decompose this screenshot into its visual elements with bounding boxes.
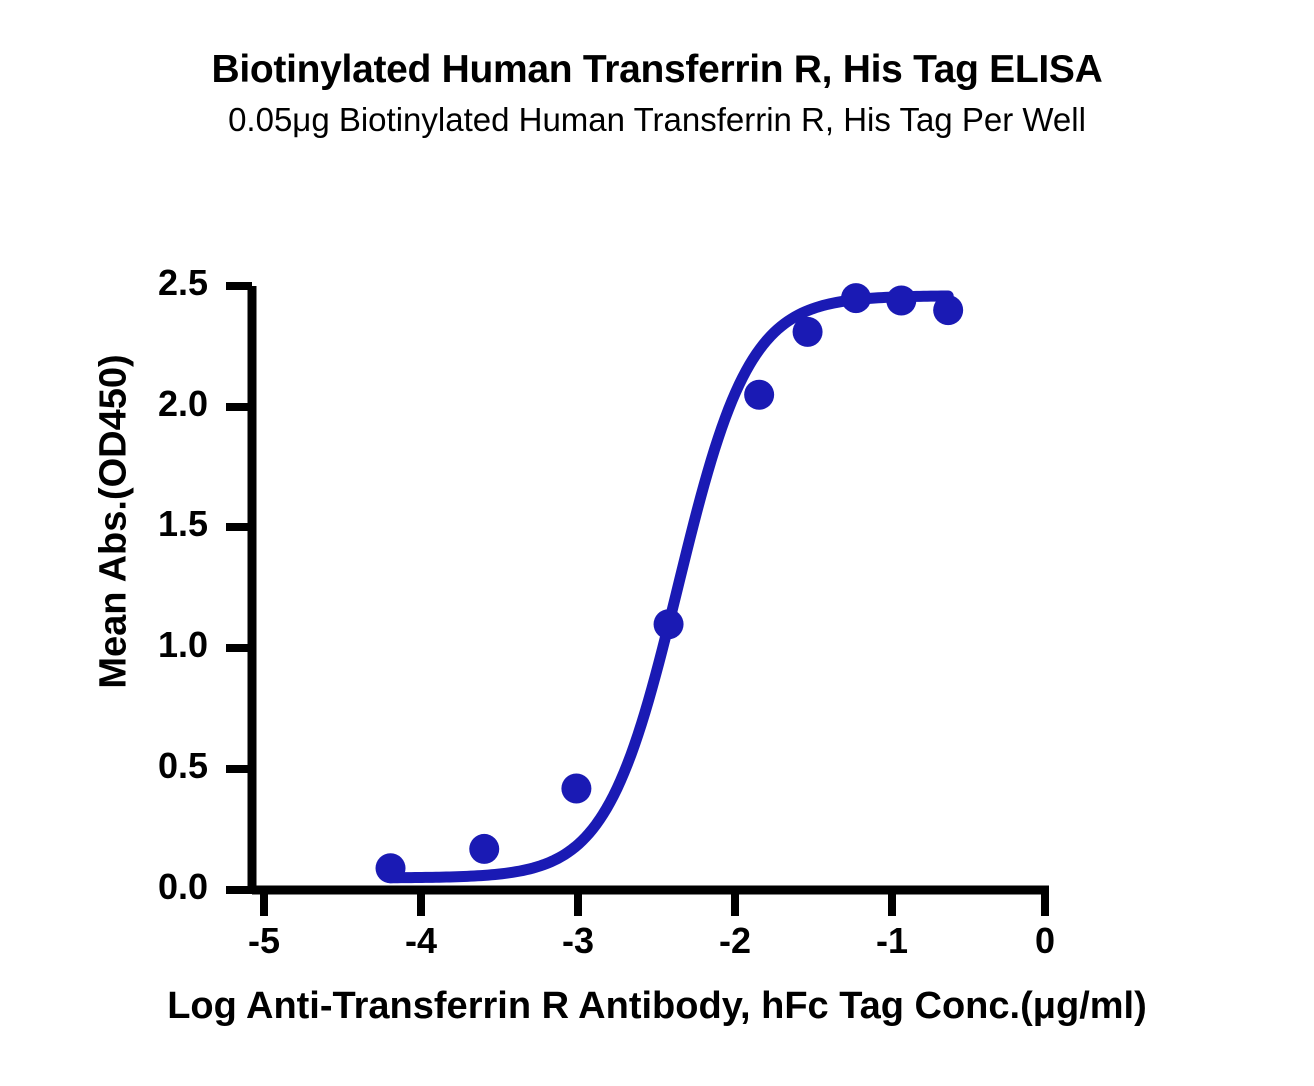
x-tick-label-0: -5 — [224, 920, 304, 962]
y-tick-label-0: 0.0 — [88, 866, 208, 908]
data-point — [744, 380, 774, 410]
data-point — [841, 283, 871, 313]
data-point — [469, 834, 499, 864]
y-tick-label-1: 0.5 — [88, 745, 208, 787]
plot-area: 0.0 0.5 1.0 1.5 2.0 2.5 -5 -4 -3 -2 -1 0… — [0, 0, 1314, 1086]
axis-lines — [252, 286, 1049, 890]
fit-curve — [391, 296, 949, 878]
y-axis-label: Mean Abs.(OD450) — [93, 312, 136, 732]
data-point — [886, 286, 916, 316]
x-tick-label-4: -1 — [852, 920, 932, 962]
x-tick-label-5: 0 — [1005, 920, 1085, 962]
data-point — [561, 774, 591, 804]
data-point — [933, 295, 963, 325]
data-points — [376, 283, 964, 883]
data-point — [654, 609, 684, 639]
chart-figure: Biotinylated Human Transferrin R, His Ta… — [0, 0, 1314, 1086]
x-tick-label-3: -2 — [695, 920, 775, 962]
y-tick-label-5: 2.5 — [88, 262, 208, 304]
x-axis-label: Log Anti-Transferrin R Antibody, hFc Tag… — [0, 985, 1314, 1028]
data-point — [376, 853, 406, 883]
x-tick-label-2: -3 — [538, 920, 618, 962]
x-tick-label-1: -4 — [381, 920, 461, 962]
data-point — [793, 317, 823, 347]
